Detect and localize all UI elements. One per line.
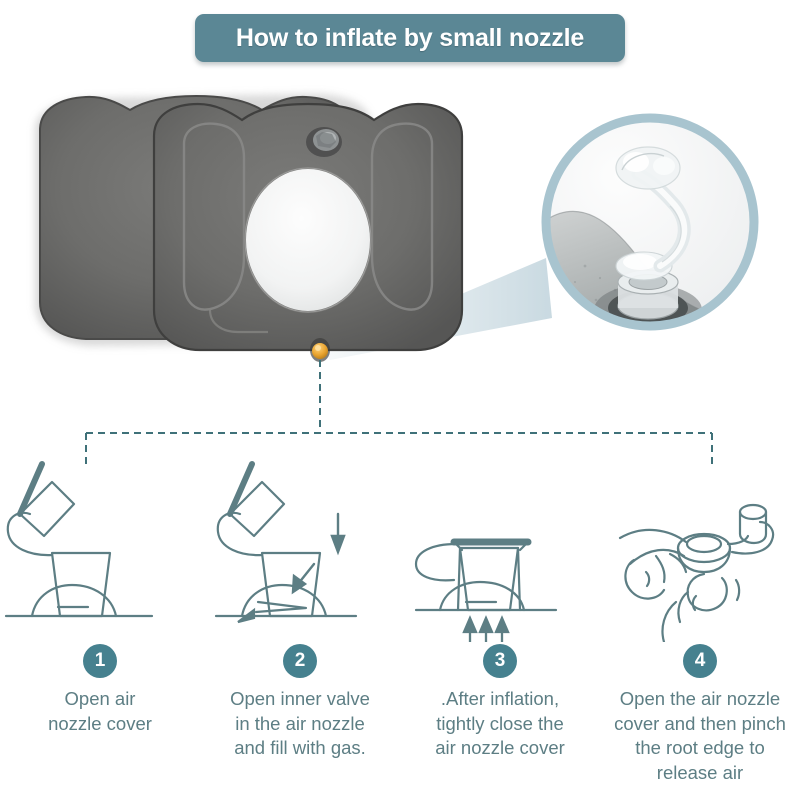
- header-banner: How to inflate by small nozzle: [195, 14, 625, 62]
- step-caption-3: .After inflation, tightly close the air …: [400, 687, 600, 761]
- step-badge-2: 2: [283, 644, 317, 678]
- step-caption-2: Open inner valve in the air nozzle and f…: [200, 687, 400, 761]
- step-1: 1 Open air nozzle cover: [0, 452, 200, 800]
- steps-row: 1 Open air nozzle cover: [0, 452, 800, 800]
- step-art-close-cover: [400, 452, 600, 642]
- top-air-valve: [306, 127, 342, 157]
- step-4: 4 Open the air nozzle cover and then pin…: [600, 452, 800, 800]
- step-caption-4: Open the air nozzle cover and then pinch…: [600, 687, 800, 785]
- step-2: 2 Open inner valve in the air nozzle and…: [200, 452, 400, 800]
- hero-illustration: [0, 70, 800, 400]
- step-badge-4: 4: [683, 644, 717, 678]
- page-title: How to inflate by small nozzle: [236, 24, 584, 53]
- magnified-nozzle-detail: [546, 118, 754, 336]
- instruction-infographic: How to inflate by small nozzle: [0, 0, 800, 800]
- step-badge-3: 3: [483, 644, 517, 678]
- step-3: 3 .After inflation, tightly close the ai…: [400, 452, 600, 800]
- step-badge-1: 1: [83, 644, 117, 678]
- step-caption-1: Open air nozzle cover: [0, 687, 200, 736]
- small-nozzle-valve: [310, 338, 330, 362]
- step-art-pinch-release: [600, 452, 800, 642]
- step-art-open-inner-valve: [200, 452, 400, 642]
- step-art-open-cover: [0, 452, 200, 642]
